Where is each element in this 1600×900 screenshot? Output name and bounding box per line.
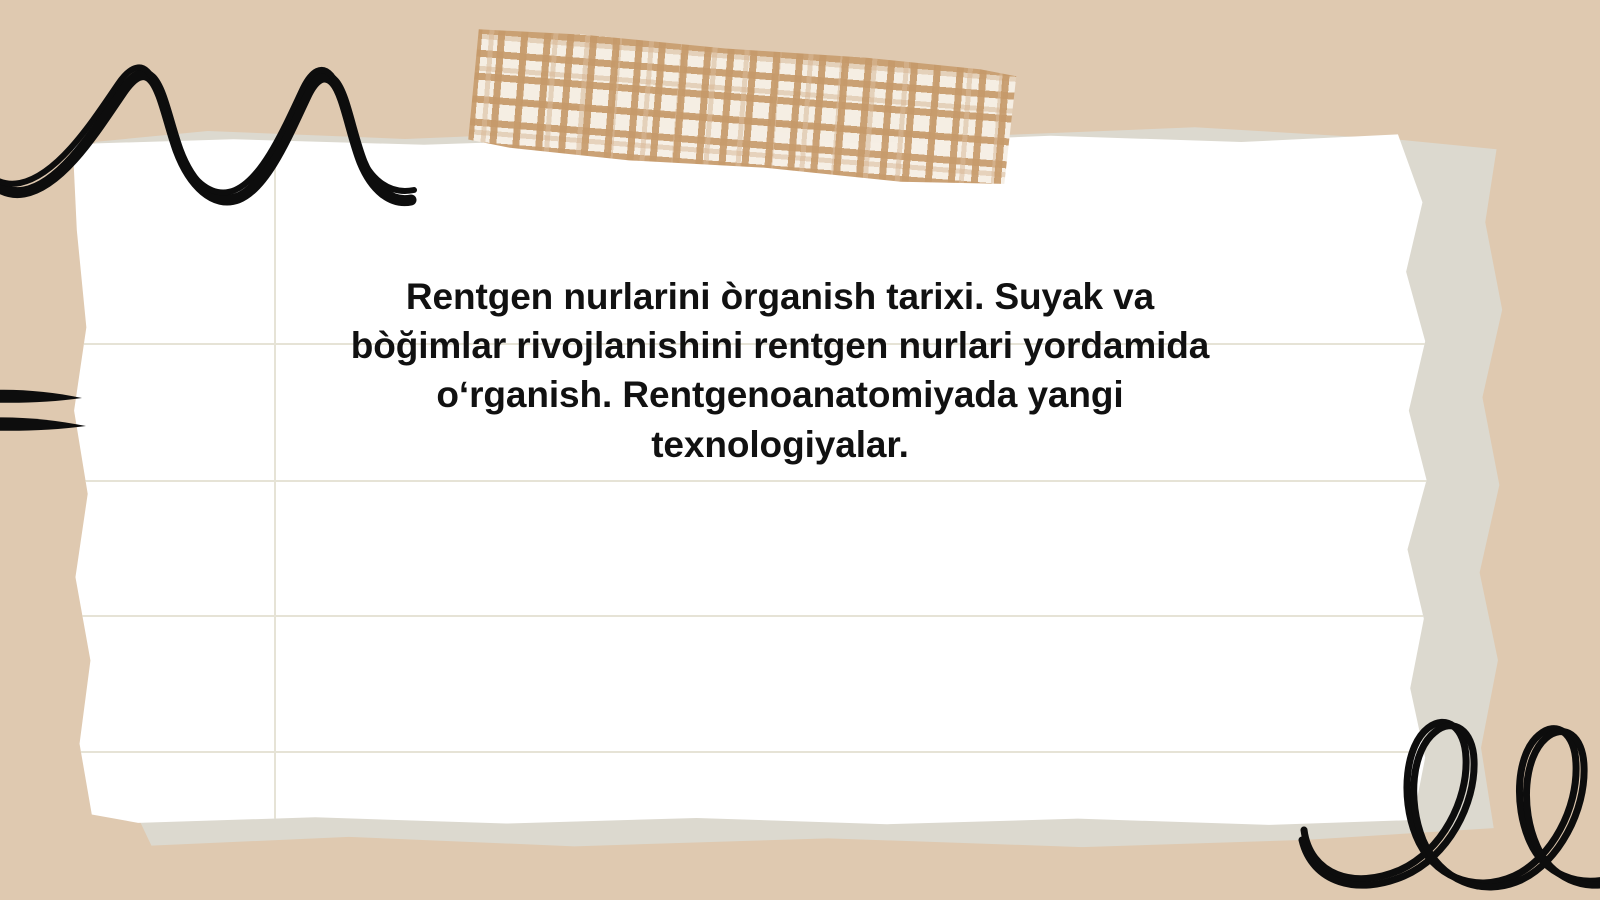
rule-line-horizontal-2 xyxy=(70,480,1432,482)
paper-sheet xyxy=(70,133,1432,827)
rule-line-horizontal-4 xyxy=(70,751,1432,753)
slide-title-line-1: Rentgen nurlarini òrganish tarixi. Suyak… xyxy=(280,272,1280,321)
paper-ruled-lines xyxy=(70,133,1432,827)
rule-line-horizontal-3 xyxy=(70,615,1432,617)
slide-canvas: Rentgen nurlarini òrganish tarixi. Suyak… xyxy=(0,0,1600,900)
slide-title-line-4: texnologiyalar. xyxy=(280,420,1280,469)
slide-title-line-3: o‘rganish. Rentgenoanatomiyada yangi xyxy=(280,370,1280,419)
slide-title: Rentgen nurlarini òrganish tarixi. Suyak… xyxy=(280,272,1280,469)
slide-title-line-2: bòğimlar rivojlanishini rentgen nurlari … xyxy=(280,321,1280,370)
rule-line-vertical-margin xyxy=(274,133,276,827)
